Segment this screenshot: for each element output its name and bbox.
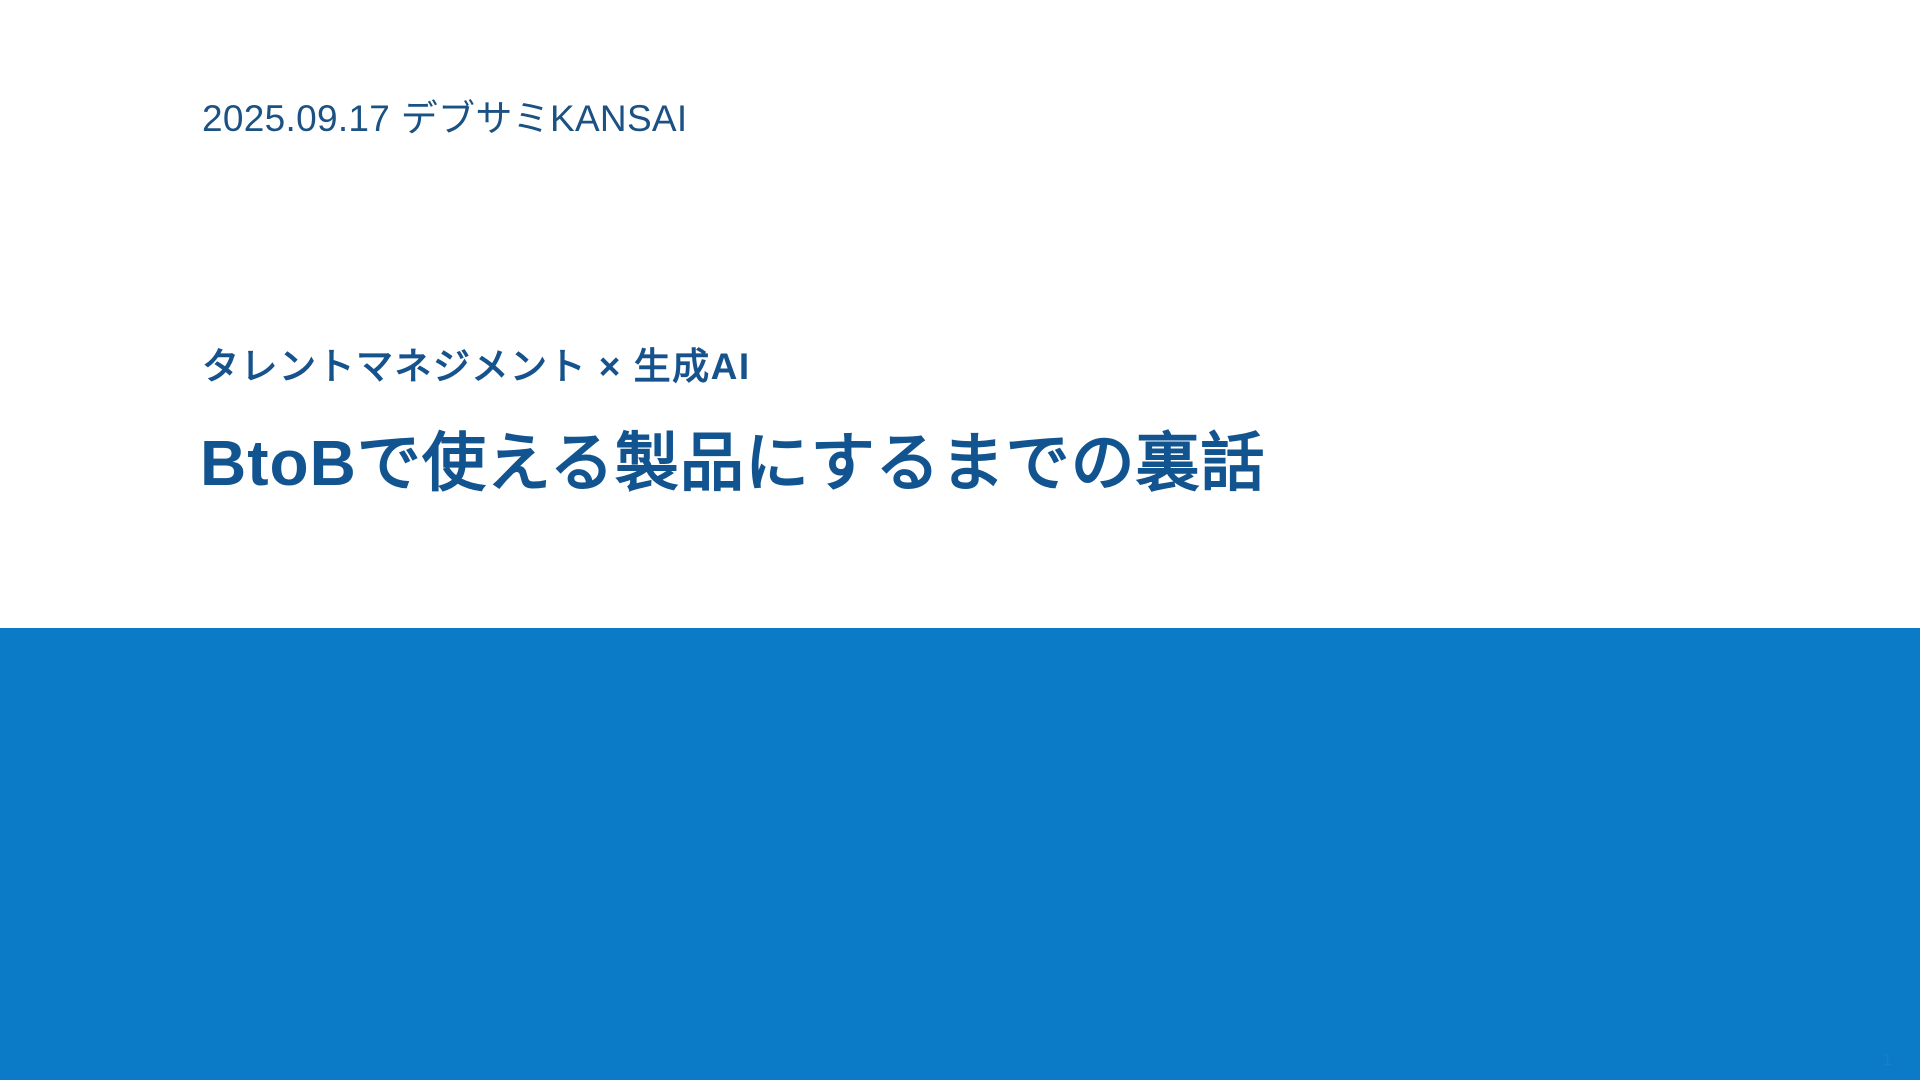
footer-band: 株式会社Works Human Intelligence 吉田治史 Works … [0, 628, 1920, 1080]
event-date-and-name: 2025.09.17 デブサミKANSAI [202, 88, 687, 142]
slide-subtitle: タレントマネジメント × 生成AI [202, 336, 751, 390]
page-title: BtoBで使える製品にするまでの裏話 [200, 412, 1266, 504]
page-number: 1 [1883, 1050, 1892, 1070]
title-slide: 2025.09.17 デブサミKANSAI タレントマネジメント × 生成AI … [0, 0, 1920, 1080]
